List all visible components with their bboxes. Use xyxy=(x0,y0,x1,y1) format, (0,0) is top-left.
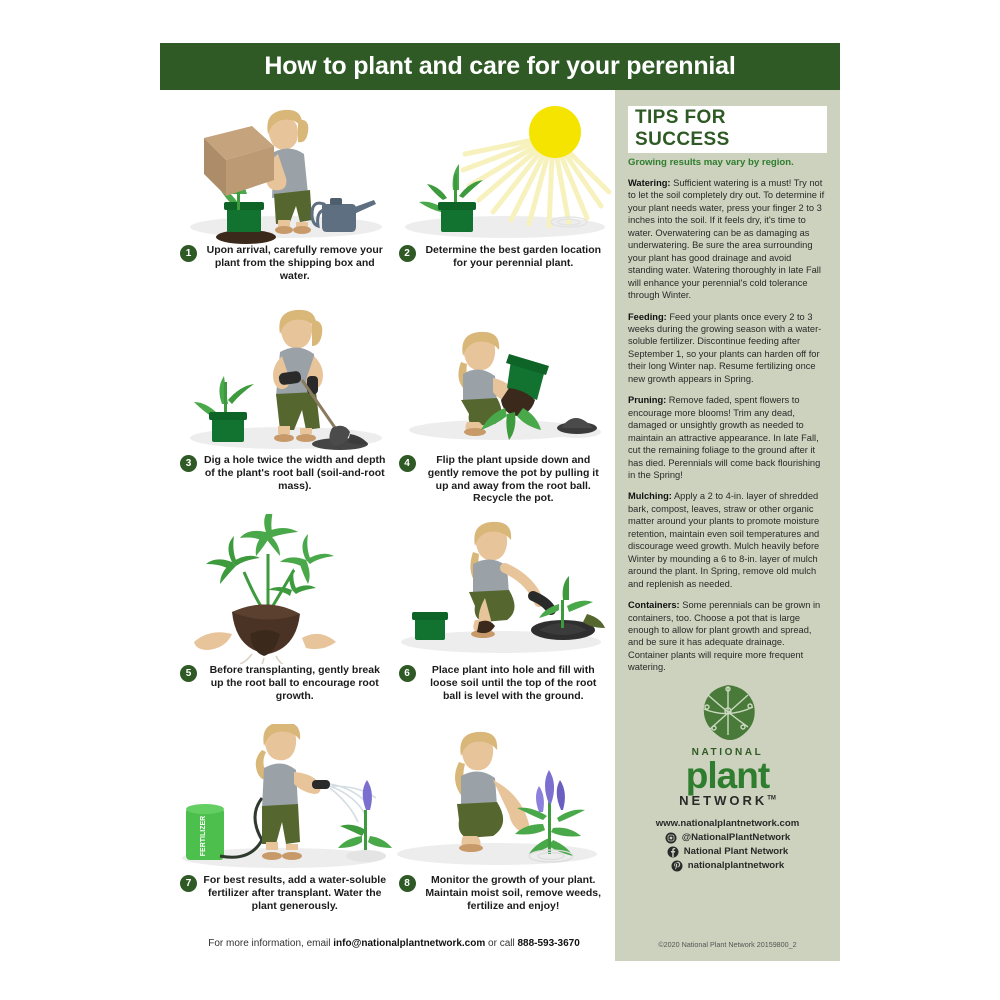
step-number: 8 xyxy=(399,875,416,892)
fertilizer-label: FERTILIZER xyxy=(200,816,207,856)
tip-label: Containers: xyxy=(628,600,680,610)
tip-label: Mulching: xyxy=(628,491,672,501)
logo-tm: TM xyxy=(767,796,776,802)
facebook-icon xyxy=(667,846,679,858)
woman-with-box-illustration xyxy=(174,94,393,244)
step-6: 6 Place plant into hole and fill with lo… xyxy=(393,514,612,724)
woman-watering-with-hose-illustration: FERTILIZER xyxy=(174,724,393,874)
tip-body: Some perennials can be grown in containe… xyxy=(628,600,820,672)
footer-email[interactable]: info@nationalplantnetwork.com xyxy=(333,938,485,949)
step-number: 5 xyxy=(180,665,197,682)
tips-heading-box: TIPS FOR SUCCESS xyxy=(628,106,827,153)
logo-plant-text: plant xyxy=(628,758,827,793)
step-number: 4 xyxy=(399,455,416,472)
contact-footer: For more information, email info@nationa… xyxy=(174,938,614,949)
step-caption: Flip the plant upside down and gently re… xyxy=(422,454,606,505)
footer-middle: or call xyxy=(485,938,517,949)
social-handle: @NationalPlantNetwork xyxy=(682,832,791,843)
social-facebook[interactable]: National Plant Network xyxy=(628,846,827,858)
step-number: 7 xyxy=(180,875,197,892)
tip-watering: Watering: Sufficient watering is a must!… xyxy=(628,177,827,302)
instagram-icon xyxy=(665,832,677,844)
step-4: 4 Flip the plant upside down and gently … xyxy=(393,304,612,514)
step-number: 1 xyxy=(180,245,197,262)
step-caption: Place plant into hole and fill with loos… xyxy=(422,664,606,702)
tip-label: Feeding: xyxy=(628,312,667,322)
tip-body: Sufficient watering is a must! Try not t… xyxy=(628,178,824,300)
tip-label: Watering: xyxy=(628,178,671,188)
tip-label: Pruning: xyxy=(628,395,666,405)
step-caption: For best results, add a water-soluble fe… xyxy=(203,874,387,912)
woman-removing-pot-illustration xyxy=(393,304,612,454)
tip-body: Apply a 2 to 4-in. layer of shredded bar… xyxy=(628,491,819,588)
footer-prefix: For more information, email xyxy=(208,938,333,949)
poster-header: How to plant and care for your perennial xyxy=(160,43,840,90)
social-handle: National Plant Network xyxy=(684,846,788,857)
website-link[interactable]: www.nationalplantnetwork.com xyxy=(628,818,827,829)
step-number: 2 xyxy=(399,245,416,262)
tip-feeding: Feeding: Feed your plants once every 2 t… xyxy=(628,311,827,386)
tip-mulching: Mulching: Apply a 2 to 4-in. layer of sh… xyxy=(628,490,827,590)
copyright-text: ©2020 National Plant Network 20159800_2 xyxy=(615,940,840,949)
step-caption: Monitor the growth of your plant. Mainta… xyxy=(422,874,606,912)
step-8: 8 Monitor the growth of your plant. Main… xyxy=(393,724,612,934)
pinterest-icon xyxy=(671,860,683,872)
social-pinterest[interactable]: nationalplantnetwork xyxy=(628,860,827,872)
social-handle: nationalplantnetwork xyxy=(688,860,784,871)
tips-heading: TIPS FOR SUCCESS xyxy=(635,107,730,150)
steps-column: 1 Upon arrival, carefully remove your pl… xyxy=(160,90,615,961)
tip-body: Feed your plants once every 2 to 3 weeks… xyxy=(628,312,821,384)
sun-and-potted-plant-illustration xyxy=(393,94,612,244)
step-1: 1 Upon arrival, carefully remove your pl… xyxy=(174,94,393,304)
brand-logo: NATIONAL plant NETWORKTM xyxy=(628,683,827,808)
step-caption: Before transplanting, gently break up th… xyxy=(203,664,387,702)
logo-network-word: NETWORK xyxy=(679,793,767,808)
leaf-globe-icon xyxy=(698,683,758,741)
step-number: 6 xyxy=(399,665,416,682)
step-caption: Upon arrival, carefully remove your plan… xyxy=(203,244,387,282)
tips-sidebar: TIPS FOR SUCCESS Growing results may var… xyxy=(615,90,840,961)
hands-breaking-root-ball-illustration xyxy=(174,514,393,664)
page-title: How to plant and care for your perennial xyxy=(264,52,735,81)
social-links: @NationalPlantNetwork National Plant Net… xyxy=(628,832,827,872)
step-3: 3 Dig a hole twice the width and depth o… xyxy=(174,304,393,514)
woman-tending-blooming-plant-illustration xyxy=(393,724,612,874)
poster-body: 1 Upon arrival, carefully remove your pl… xyxy=(160,90,840,961)
woman-placing-plant-in-hole-illustration xyxy=(393,514,612,664)
tips-subheading: Growing results may vary by region. xyxy=(628,157,827,168)
tip-containers: Containers: Some perennials can be grown… xyxy=(628,599,827,674)
tip-pruning: Pruning: Remove faded, spent flowers to … xyxy=(628,394,827,481)
step-5: 5 Before transplanting, gently break up … xyxy=(174,514,393,724)
step-2: 2 Determine the best garden location for… xyxy=(393,94,612,304)
step-number: 3 xyxy=(180,455,197,472)
tip-body: Remove faded, spent flowers to encourage… xyxy=(628,395,820,480)
social-instagram[interactable]: @NationalPlantNetwork xyxy=(628,832,827,844)
steps-grid: 1 Upon arrival, carefully remove your pl… xyxy=(160,90,615,934)
woman-digging-with-shovel-illustration xyxy=(174,304,393,454)
footer-phone[interactable]: 888-593-3670 xyxy=(517,938,579,949)
step-7: FERTILIZER xyxy=(174,724,393,934)
step-caption: Dig a hole twice the width and depth of … xyxy=(203,454,387,492)
logo-network-text: NETWORKTM xyxy=(628,793,827,808)
poster: How to plant and care for your perennial xyxy=(160,43,840,961)
step-caption: Determine the best garden location for y… xyxy=(422,244,606,270)
